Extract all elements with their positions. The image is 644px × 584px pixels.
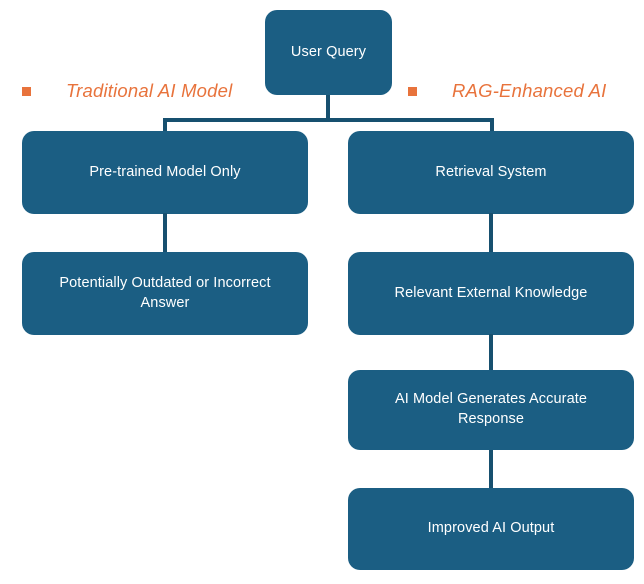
node-relevant-external-knowledge[interactable]: Relevant External Knowledge bbox=[348, 252, 634, 335]
node-user-query-label: User Query bbox=[291, 43, 366, 63]
node-retrieval-system[interactable]: Retrieval System bbox=[348, 131, 634, 214]
node-potentially-outdated-answer-label: Potentially Outdated or Incorrect Answer bbox=[59, 274, 270, 313]
connector-rag-3 bbox=[489, 450, 493, 489]
square-bullet-icon bbox=[408, 87, 417, 96]
node-improved-ai-output-label: Improved AI Output bbox=[428, 519, 555, 539]
legend-item-rag: RAG-Enhanced AI bbox=[408, 80, 607, 102]
connector-rag-1 bbox=[489, 213, 493, 253]
node-ai-model-generates-accurate-response[interactable]: AI Model Generates Accurate Response bbox=[348, 370, 634, 450]
node-pre-trained-model-only-label: Pre-trained Model Only bbox=[89, 163, 240, 183]
node-user-query[interactable]: User Query bbox=[265, 10, 392, 95]
node-potentially-outdated-answer[interactable]: Potentially Outdated or Incorrect Answer bbox=[22, 252, 308, 335]
connector-rag-2 bbox=[489, 334, 493, 372]
diagram-canvas: User Query Traditional AI Model RAG-Enha… bbox=[0, 0, 644, 584]
legend-label-traditional: Traditional AI Model bbox=[66, 80, 232, 102]
legend-item-traditional: Traditional AI Model bbox=[22, 80, 232, 102]
connector-traditional-1 bbox=[163, 213, 167, 253]
legend-label-rag: RAG-Enhanced AI bbox=[452, 80, 607, 102]
connector-root-horizontal bbox=[163, 118, 494, 122]
node-retrieval-system-label: Retrieval System bbox=[435, 163, 546, 183]
node-relevant-external-knowledge-label: Relevant External Knowledge bbox=[395, 284, 588, 304]
node-improved-ai-output[interactable]: Improved AI Output bbox=[348, 488, 634, 570]
node-pre-trained-model-only[interactable]: Pre-trained Model Only bbox=[22, 131, 308, 214]
square-bullet-icon bbox=[22, 87, 31, 96]
node-ai-model-generates-accurate-response-label: AI Model Generates Accurate Response bbox=[395, 390, 587, 429]
